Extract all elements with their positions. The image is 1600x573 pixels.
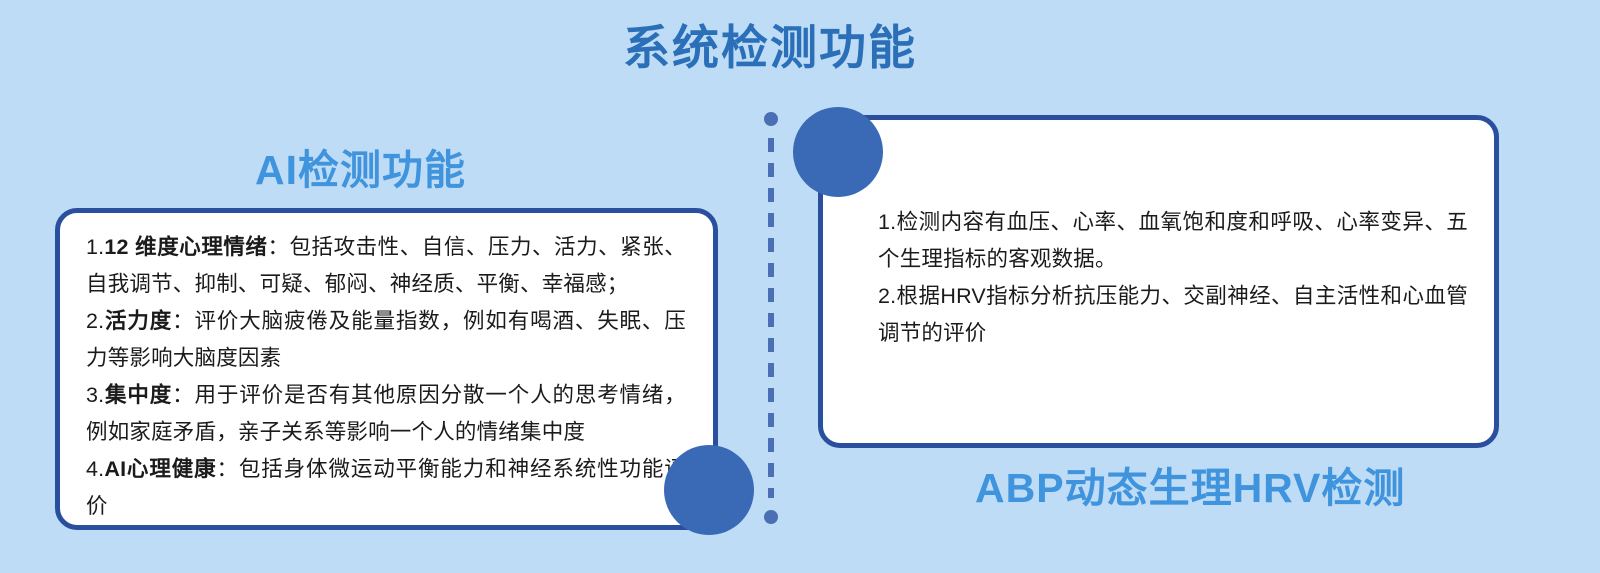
item-label: 集中度 (104, 383, 172, 407)
item-index: 3. (86, 383, 104, 407)
item-index: 2. (86, 309, 104, 333)
item-index: 4. (86, 457, 104, 481)
list-item: 3.集中度：用于评价是否有其他原因分散一个人的思考情绪，例如家庭矛盾，亲子关系等… (86, 377, 686, 451)
item-separator: ： (267, 235, 289, 259)
list-item: 1.检测内容有血压、心率、血氧饱和度和呼吸、心率变异、五个生理指标的客观数据。 (878, 204, 1468, 278)
list-item: 2.根据HRV指标分析抗压能力、交副神经、自主活性和心血管调节的评价 (878, 278, 1468, 352)
left-section-title: AI检测功能 (255, 148, 466, 193)
divider-top-dot-icon (764, 112, 778, 126)
dotted-divider (764, 112, 778, 524)
item-description: 检测内容有血压、心率、血氧饱和度和呼吸、心率变异、五个生理指标的客观数据。 (878, 210, 1468, 271)
infographic-canvas: 系统检测功能 AI检测功能 1.12 维度心理情绪：包括攻击性、自信、压力、活力… (0, 0, 1600, 573)
item-label: 12 维度心理情绪 (104, 235, 267, 259)
right-section-title: ABP动态生理HRV检测 (975, 466, 1405, 511)
page-title: 系统检测功能 (0, 22, 1540, 74)
list-item: 1.12 维度心理情绪：包括攻击性、自信、压力、活力、紧张、自我调节、抑制、可疑… (86, 229, 686, 303)
item-label: AI心理健康 (104, 457, 216, 481)
item-separator: ： (217, 457, 239, 481)
accent-circle-left-icon (664, 445, 754, 535)
divider-bottom-dot-icon (764, 510, 778, 524)
item-separator: ： (172, 383, 194, 407)
abp-hrv-card: 1.检测内容有血压、心率、血氧饱和度和呼吸、心率变异、五个生理指标的客观数据。 … (818, 115, 1499, 448)
abp-hrv-card-body: 1.检测内容有血压、心率、血氧饱和度和呼吸、心率变异、五个生理指标的客观数据。 … (878, 204, 1468, 352)
ai-detection-card-body: 1.12 维度心理情绪：包括攻击性、自信、压力、活力、紧张、自我调节、抑制、可疑… (86, 229, 686, 525)
item-index: 1. (86, 235, 104, 259)
accent-circle-right-icon (793, 107, 883, 197)
item-separator: ： (172, 309, 194, 333)
item-description: 根据HRV指标分析抗压能力、交副神经、自主活性和心血管调节的评价 (878, 284, 1468, 345)
list-item: 2.活力度：评价大脑疲倦及能量指数，例如有喝酒、失眠、压力等影响大脑度因素 (86, 303, 686, 377)
item-index: 2. (878, 284, 896, 308)
divider-dash-track (768, 138, 774, 498)
item-index: 1. (878, 210, 896, 234)
ai-detection-card: 1.12 维度心理情绪：包括攻击性、自信、压力、活力、紧张、自我调节、抑制、可疑… (55, 208, 718, 530)
item-label: 活力度 (104, 309, 172, 333)
list-item: 4.AI心理健康：包括身体微运动平衡能力和神经系统性功能评价 (86, 451, 686, 525)
